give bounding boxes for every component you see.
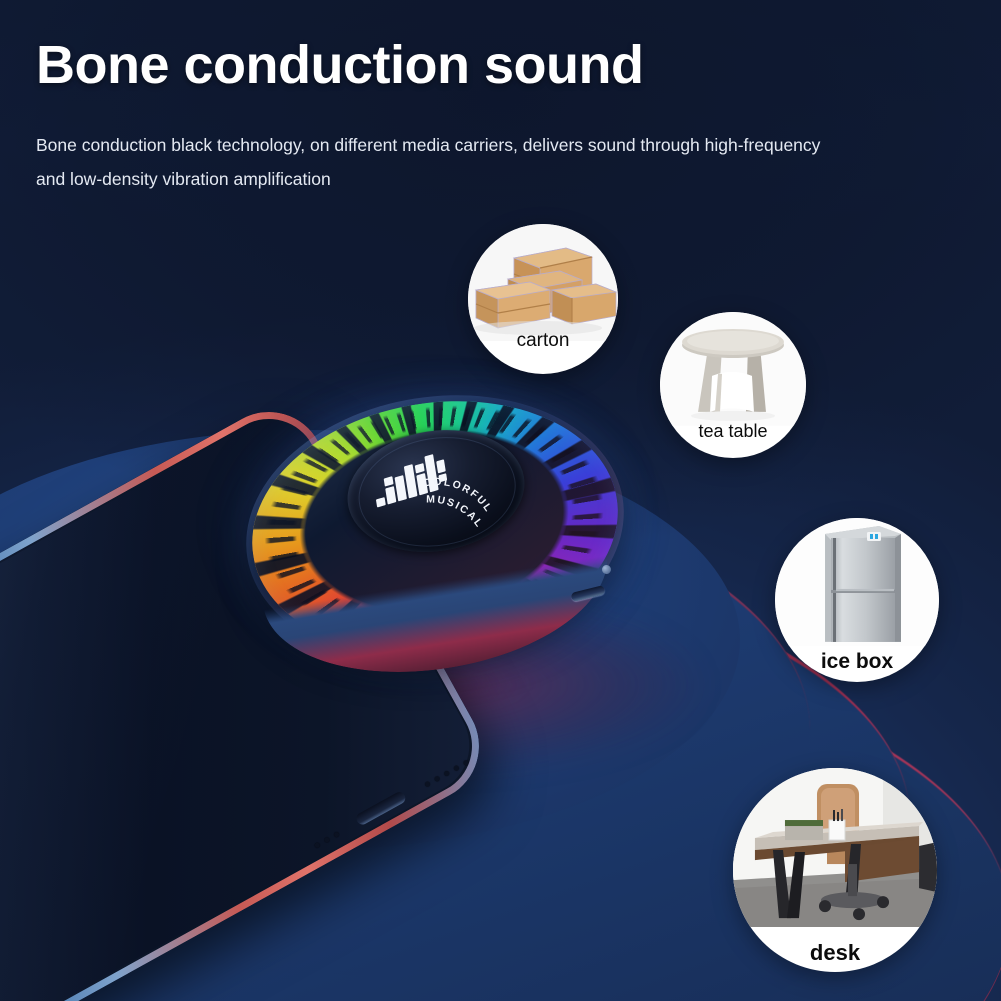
callout-tea-table[interactable]: tea table — [660, 312, 806, 458]
product-marketing-banner: Bone conduction sound Bone conduction bl… — [0, 0, 1001, 1001]
callout-carton[interactable]: carton — [468, 224, 618, 374]
cardboard-boxes-icon — [468, 224, 618, 341]
round-table-icon — [660, 312, 806, 426]
callout-label: ice box — [775, 651, 939, 672]
page-title: Bone conduction sound — [36, 36, 816, 94]
callout-label: tea table — [660, 422, 806, 440]
bone-conduction-speaker: COLORFUL MUSICAL — [243, 393, 627, 683]
page-subtitle: Bone conduction black technology, on dif… — [36, 128, 826, 196]
callout-ice-box[interactable]: ice box — [775, 518, 939, 682]
callout-label: desk — [733, 942, 937, 964]
office-desk-icon — [733, 768, 937, 927]
refrigerator-icon — [775, 518, 939, 646]
callout-label: carton — [468, 331, 618, 350]
callout-desk[interactable]: desk — [733, 768, 937, 972]
